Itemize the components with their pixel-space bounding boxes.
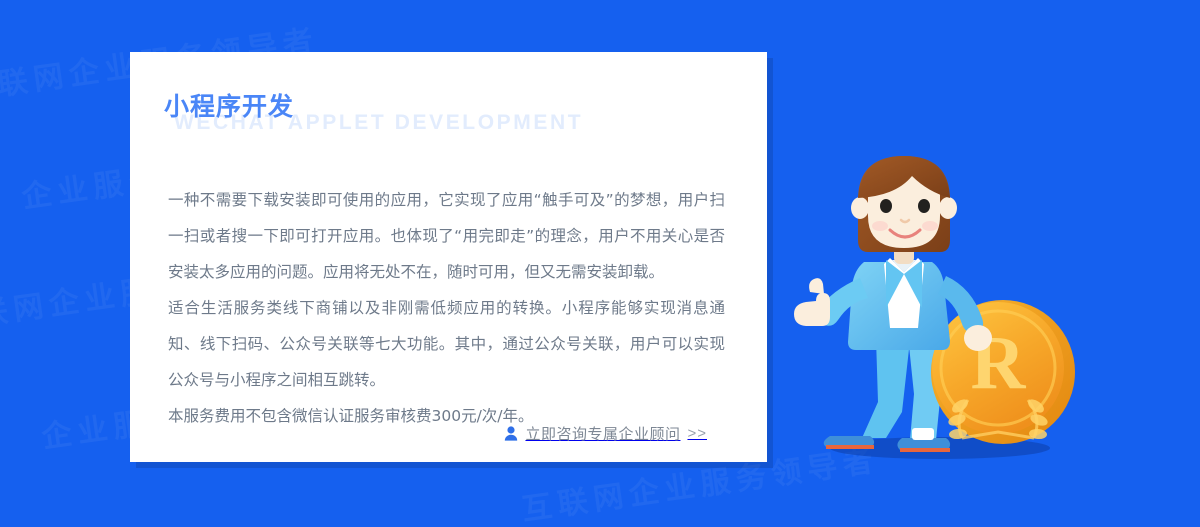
description-paragraph: 适合生活服务类线下商铺以及非刚需低频应用的转换。小程序能够实现消息通知、线下扫码… bbox=[168, 290, 725, 398]
chevron-right-arrows: >> bbox=[687, 425, 707, 442]
shoe-front-sole bbox=[900, 448, 950, 452]
gold-coin: R bbox=[931, 300, 1075, 444]
businesswoman-with-coin-illustration: R bbox=[790, 150, 1090, 490]
thumbs-up-hand bbox=[794, 278, 830, 326]
description-paragraph: 一种不需要下载安装即可使用的应用，它实现了应用“触手可及”的梦想，用户扫一扫或者… bbox=[168, 182, 725, 290]
user-icon bbox=[504, 426, 518, 441]
consult-advisor-link[interactable]: 立即咨询专属企业顾问 >> bbox=[504, 423, 707, 444]
eye-left bbox=[880, 199, 892, 213]
ear-right bbox=[939, 197, 957, 219]
ear-left bbox=[851, 197, 869, 219]
heading-block: WECHAT APPLET DEVELOPMENT 小程序开发 bbox=[164, 92, 725, 160]
consult-advisor-label: 立即咨询专属企业顾问 bbox=[525, 423, 680, 444]
head bbox=[851, 156, 957, 252]
back-leg bbox=[862, 338, 910, 438]
illustration-svg: R bbox=[790, 150, 1090, 490]
page-title: 小程序开发 bbox=[164, 92, 294, 122]
sock-front bbox=[912, 428, 934, 440]
card-inner: WECHAT APPLET DEVELOPMENT 小程序开发 一种不需要下载安… bbox=[130, 52, 767, 462]
blush-right bbox=[922, 221, 938, 231]
description-body: 一种不需要下载安装即可使用的应用，它实现了应用“触手可及”的梦想，用户扫一扫或者… bbox=[164, 182, 725, 434]
hand-right bbox=[964, 325, 992, 351]
blush-left bbox=[872, 221, 888, 231]
eye-right bbox=[918, 199, 930, 213]
service-card: WECHAT APPLET DEVELOPMENT 小程序开发 一种不需要下载安… bbox=[130, 52, 767, 462]
shoe-back-sole bbox=[826, 445, 874, 449]
